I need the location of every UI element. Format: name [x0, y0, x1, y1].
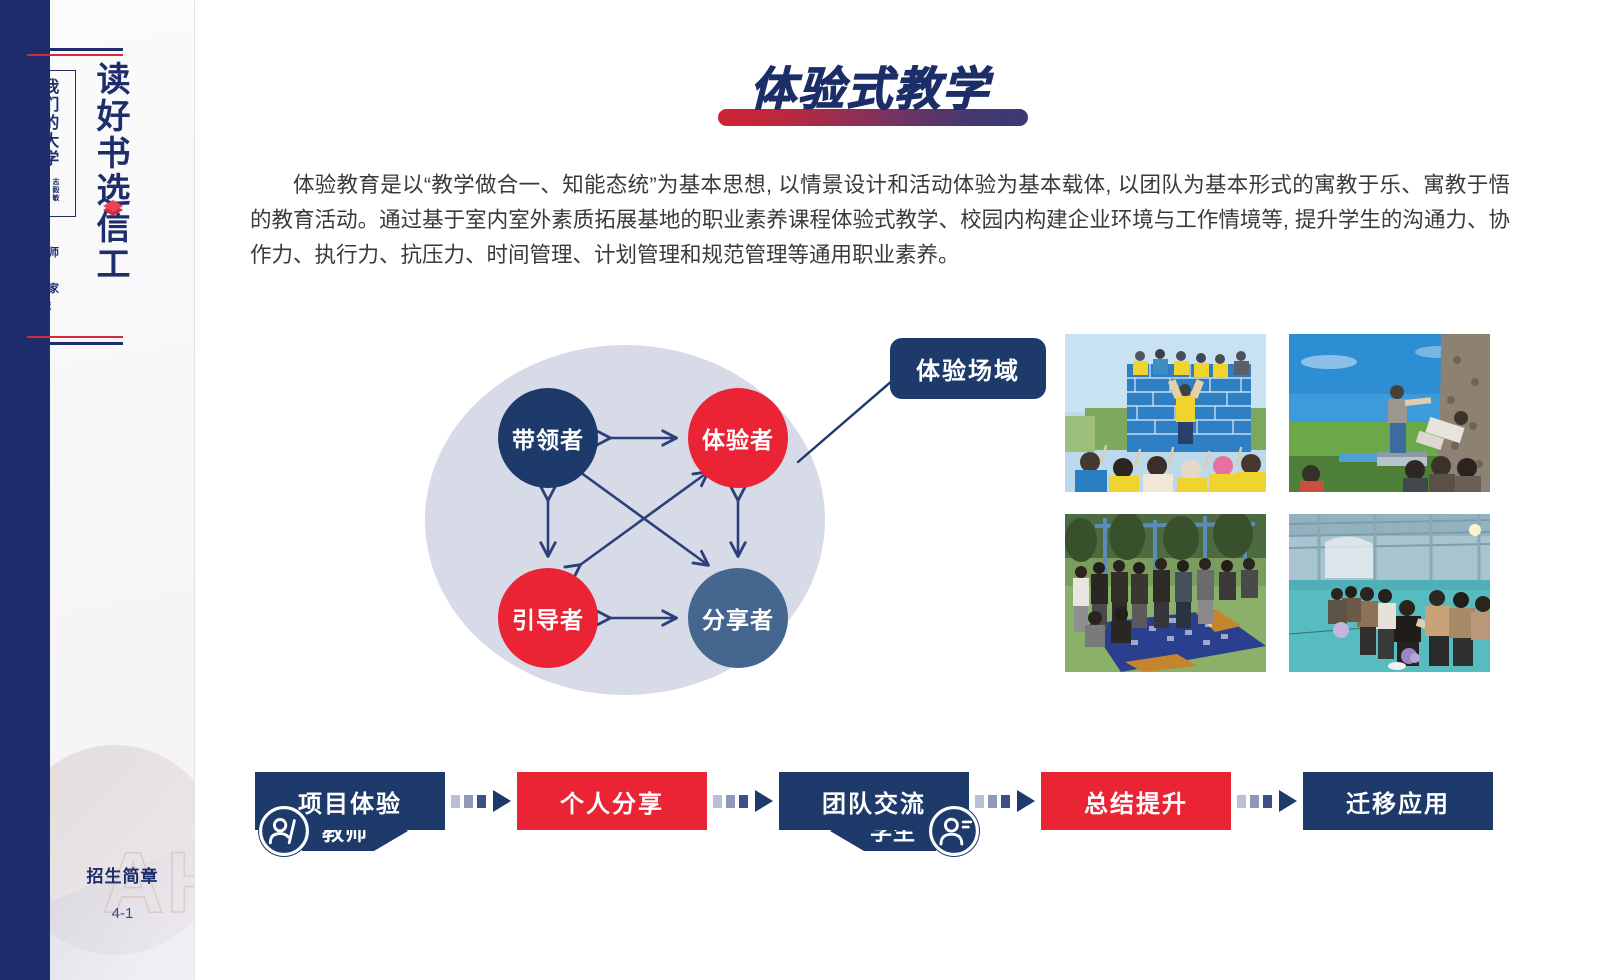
process-flow: 项目体验 个人分享 团队交流 总结提升 — [255, 772, 1493, 830]
flow-step-5[interactable]: 迁移应用 — [1303, 772, 1493, 830]
diagram-node-experiencer[interactable]: 体验者 — [688, 388, 788, 488]
brand-logo-block: 我们的大学 立诚创 志毅敏 读好书选信工 产业 工程师 创业 企业家 的摇篮 — [20, 48, 130, 348]
student-person-icon — [928, 805, 980, 857]
flow-connector-1 — [445, 790, 517, 812]
connector-square-dark-icon — [739, 795, 748, 808]
flow-connector-2 — [707, 790, 779, 812]
connector-square-light-icon — [713, 795, 722, 808]
field-label-badge: 体验场域 — [890, 338, 1046, 399]
footer-page-number: 4-1 — [50, 905, 195, 922]
footer-label: 招生简章 — [50, 862, 195, 887]
diagram-node-sharer[interactable]: 分享者 — [688, 568, 788, 668]
teacher-person-icon — [258, 805, 310, 857]
logo-rule-top-red — [27, 54, 123, 56]
arrow-right-icon — [493, 790, 511, 812]
diagram-node-leader[interactable]: 带领者 — [498, 388, 598, 488]
flow-step-4-label: 总结提升 — [1084, 784, 1188, 819]
page-title-group: 体验式教学 — [700, 64, 1040, 138]
photo-team-climbing-wall[interactable] — [1065, 334, 1266, 492]
node-label-guide: 引导者 — [512, 601, 584, 635]
logo-motto-group: 立诚创 志毅敏 — [36, 178, 60, 202]
connector-square-dark-icon — [1001, 795, 1010, 808]
logo-rule-bottom-red — [27, 336, 123, 338]
connector-square-mid-icon — [726, 795, 735, 808]
slide-page: AHT 我们的大学 立诚创 志毅敏 读好书选信工 产业 工程师 创业 企业家 的… — [0, 0, 1600, 980]
book-icon — [101, 198, 125, 218]
connector-square-light-icon — [1237, 795, 1246, 808]
field-label-text: 体验场域 — [916, 358, 1020, 385]
flow-step-1-label: 项目体验 — [298, 784, 402, 819]
flow-step-2-label: 个人分享 — [560, 784, 664, 819]
experience-field-diagram: 带领者 体验者 引导者 分享者 体验场域 — [250, 320, 1050, 720]
arrow-right-icon — [1279, 790, 1297, 812]
arrow-right-icon — [1017, 790, 1035, 812]
tagline-1: 产业 — [25, 226, 60, 244]
photo-outdoor-team-mat[interactable] — [1065, 514, 1266, 672]
tagline-2: 工程师 — [25, 244, 60, 262]
tagline-3: 创业 — [25, 262, 60, 280]
connector-square-mid-icon — [988, 795, 997, 808]
sidebar-divider — [194, 0, 195, 980]
logo-motto-1: 立诚创 — [36, 178, 46, 202]
tagline-4: 企业家 — [25, 280, 60, 298]
connector-square-dark-icon — [1263, 795, 1272, 808]
flow-step-4[interactable]: 总结提升 — [1041, 772, 1231, 830]
logo-rule-top-navy — [27, 48, 123, 51]
node-label-experiencer: 体验者 — [702, 421, 774, 455]
connector-square-mid-icon — [464, 795, 473, 808]
logo-tagline-group: 产业 工程师 创业 企业家 的摇篮 — [25, 226, 60, 313]
photo-indoor-gym-team[interactable] — [1289, 514, 1490, 672]
arrow-right-icon — [755, 790, 773, 812]
activity-photo-grid — [1065, 334, 1490, 684]
connector-square-mid-icon — [1250, 795, 1259, 808]
flow-connector-4 — [1231, 790, 1303, 812]
flow-step-2[interactable]: 个人分享 — [517, 772, 707, 830]
logo-main-text: 读好书选信工 — [90, 61, 128, 283]
flow-step-5-label: 迁移应用 — [1346, 784, 1450, 819]
logo-sub-text: 我们的大学 — [39, 78, 58, 168]
flow-step-3-label: 团队交流 — [822, 784, 926, 819]
diagram-node-guide[interactable]: 引导者 — [498, 568, 598, 668]
logo-rule-bottom-navy — [27, 342, 123, 345]
page-title: 体验式教学 — [700, 64, 1040, 115]
photo-trust-fall-platform[interactable] — [1289, 334, 1490, 492]
connector-square-light-icon — [451, 795, 460, 808]
node-label-leader: 带领者 — [512, 421, 584, 455]
logo-motto-2: 志毅敏 — [50, 178, 60, 202]
node-label-sharer: 分享者 — [702, 601, 774, 635]
tagline-5: 的摇篮 — [25, 299, 60, 313]
intro-paragraph: 体验教育是以“教学做合一、知能态统”为基本思想, 以情景设计和活动体验为基本载体… — [250, 168, 1510, 272]
connector-square-dark-icon — [477, 795, 486, 808]
